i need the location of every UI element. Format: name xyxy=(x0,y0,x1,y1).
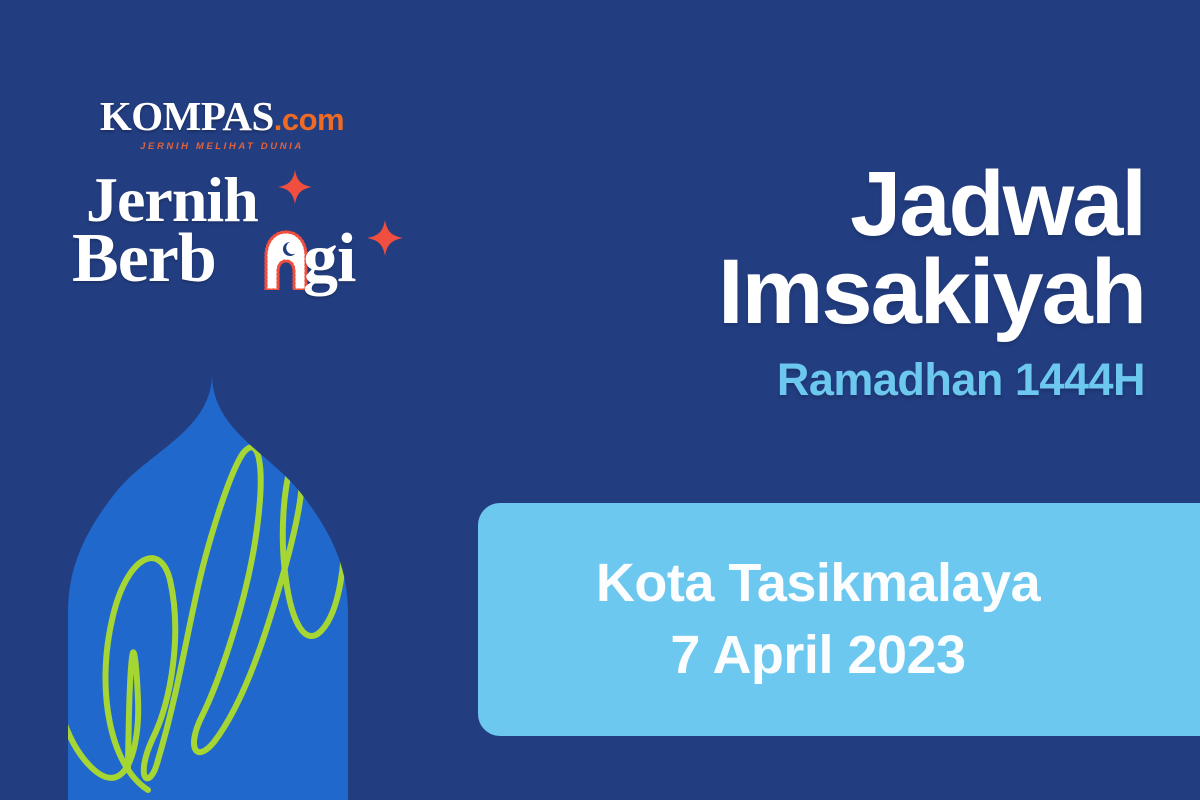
kompas-logo: KOMPAS.com JERNIH MELIHAT DUNIA xyxy=(92,96,352,152)
location-date-card: Kota Tasikmalaya 7 April 2023 xyxy=(478,503,1200,736)
headline-line-1: Jadwal xyxy=(850,153,1145,255)
headline-subtitle: Ramadhan 1444H xyxy=(445,357,1145,402)
kompas-tagline: JERNIH MELIHAT DUNIA xyxy=(92,142,352,152)
kompas-wordmark: KOMPAS xyxy=(100,96,274,137)
sparkle-star-icon xyxy=(278,170,312,204)
page-title: Jadwal Imsakiyah xyxy=(445,160,1145,337)
imsakiyah-poster: KOMPAS.com JERNIH MELIHAT DUNIA Jernih B… xyxy=(0,0,1200,800)
kompas-dotcom: .com xyxy=(274,104,344,135)
arch-shape xyxy=(68,374,348,800)
jernih-berbagi-line2-post: gi xyxy=(303,224,355,294)
date-label: 7 April 2023 xyxy=(596,620,1040,691)
jernih-berbagi-line2-pre: Berb xyxy=(72,224,216,294)
jernih-berbagi-logo: Jernih Berb gi xyxy=(72,168,402,318)
green-squiggle-line xyxy=(53,447,344,790)
headline-line-2: Imsakiyah xyxy=(445,248,1145,336)
city-name: Kota Tasikmalaya xyxy=(596,548,1040,619)
headline-block: Jadwal Imsakiyah Ramadhan 1444H xyxy=(445,160,1145,402)
sparkle-star-icon xyxy=(367,220,403,256)
location-date-card-inner: Kota Tasikmalaya 7 April 2023 xyxy=(596,548,1120,691)
